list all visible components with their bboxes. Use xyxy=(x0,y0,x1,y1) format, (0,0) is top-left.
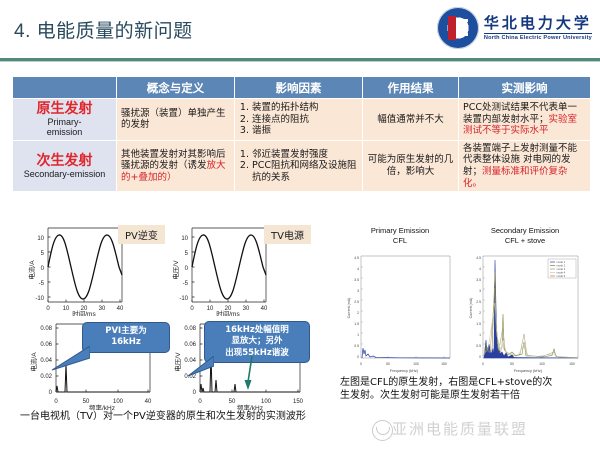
y-axis-title: 电流/A xyxy=(27,260,36,280)
cell-secondary-measured: 各装置端子上发射测量不能代表整体设施 对电网的发射；测量标准和评价复杂化。 xyxy=(459,140,591,191)
ytick-label: 1 xyxy=(357,333,359,337)
xtick-label: 0 xyxy=(482,362,484,366)
row-label-primary: 原生发射 Primary- emission xyxy=(13,99,117,141)
ytick-label: 4 xyxy=(479,267,481,271)
table-header-result: 作用结果 xyxy=(363,77,459,99)
ytick-label: 4.5 xyxy=(354,256,359,260)
ytick-label: 0.08 xyxy=(40,326,52,332)
xtick-label: 0 xyxy=(54,399,58,405)
watermark-text: 亚洲电能质量联盟 xyxy=(392,418,528,439)
callout-pvi-tail-icon xyxy=(50,346,90,372)
table-header-measured: 实测影响 xyxy=(459,77,591,99)
row-label-secondary-cn: 次生发射 xyxy=(17,153,112,169)
y-axis-title: 电压/V xyxy=(171,260,180,280)
secondary-emission-title: Secondary Emission CFL + stove xyxy=(462,226,588,246)
table-header-definition: 概念与定义 xyxy=(117,77,235,99)
list-item: PCC阻抗和网络及设施阻抗的关系 xyxy=(252,160,358,183)
waveform-line xyxy=(48,235,122,299)
ytick-label: 3 xyxy=(357,289,359,293)
ytick-label: 2.5 xyxy=(476,300,481,304)
list-item: 谐振 xyxy=(252,125,358,137)
row-label-primary-en2: emission xyxy=(17,127,112,137)
y-axis-title: 电压/V xyxy=(173,352,182,372)
ytick-label: 0 xyxy=(193,390,197,396)
callout-line: 16kHz处幅值明 xyxy=(209,325,305,336)
ytick-label: 1 xyxy=(479,333,481,337)
emission-comparison-table: 概念与定义 影响因素 作用结果 实测影响 原生发射 Primary- emiss… xyxy=(12,76,591,192)
list-item: 邻近装置发射强度 xyxy=(252,149,358,161)
row-label-secondary: 次生发射 Secondary-emission xyxy=(13,140,117,191)
row-label-secondary-en1: Secondary-emission xyxy=(17,169,112,179)
xtick-label: 30 xyxy=(99,306,106,312)
callout-line: 16kHz xyxy=(87,337,165,348)
xtick-label: 0 xyxy=(190,306,194,312)
legend-label: mode 3 xyxy=(557,267,566,271)
ytick-label: 4.5 xyxy=(476,256,481,260)
cell-primary-result: 幅值通常并不大 xyxy=(363,99,459,141)
ytick-label: 3.5 xyxy=(476,278,481,282)
secondary-emission-title-line1: Secondary Emission xyxy=(462,226,588,236)
table-header-blank xyxy=(13,77,117,99)
table-row: 原生发射 Primary- emission 骚扰源（装置）单独产生的发射 装置… xyxy=(13,99,591,141)
header-divider-thin xyxy=(0,61,600,62)
watermark-logo-icon xyxy=(372,420,393,441)
left-figure-caption: 一台电视机（TV）对一个PV逆变器的原生和次生发射的实测波形 xyxy=(20,410,320,423)
cell-secondary-result: 可能为原生发射的几倍，影响大 xyxy=(363,140,459,191)
secondary-trace-mode4 xyxy=(484,303,578,358)
legend-label: mode 4 xyxy=(557,271,566,275)
ytick-label: 3 xyxy=(479,289,481,293)
ytick-label: 0 xyxy=(49,390,53,396)
table-header-row: 概念与定义 影响因素 作用结果 实测影响 xyxy=(13,77,591,99)
ytick-label: 2.5 xyxy=(354,300,359,304)
cell-secondary-factors: 邻近装置发射强度 PCC阻抗和网络及设施阻抗的关系 xyxy=(235,140,363,191)
callout-line: PVI主要为 xyxy=(87,326,165,337)
right-figure-group: Primary Emission CFL Secondary Emission … xyxy=(336,222,596,448)
ytick-label: 10 xyxy=(181,236,188,242)
chart-wave-voltage: 10 5 0 -5 -10 0 10 20 30 40 电压/V 时间/ms xyxy=(166,224,278,316)
xtick-label: 10 xyxy=(207,306,214,312)
university-emblem-icon xyxy=(437,7,479,49)
x-axis-title: 频率/kHz xyxy=(89,403,115,410)
slide-root: 4. 电能质量的新问题 华北电力大学 North China Electric … xyxy=(0,0,600,450)
ytick-label: 5 xyxy=(41,251,45,257)
legend-label: mode 1 xyxy=(557,260,566,264)
xtick-label: 0 xyxy=(360,362,362,366)
ytick-label: 1.5 xyxy=(476,322,481,326)
cell-primary-factors: 装置的拓扑结构 连接点的阻抗 谐振 xyxy=(235,99,363,141)
xtick-label: 40 xyxy=(145,399,152,405)
ytick-label: -10 xyxy=(179,296,188,302)
xtick-label: 0 xyxy=(46,306,50,312)
ytick-label: 0 xyxy=(185,266,189,272)
logo-chinese-name: 华北电力大学 xyxy=(484,15,592,32)
callout-line: 显放大；另外 xyxy=(209,336,305,347)
x-axis-title: Frequency (kHz) xyxy=(390,369,419,373)
ytick-label: 0.02 xyxy=(40,374,52,380)
y-axis-title: 电流/A xyxy=(29,352,38,372)
ytick-label: 0.06 xyxy=(184,342,196,348)
ytick-label: 0 xyxy=(357,355,359,359)
xtick-label: 150 xyxy=(441,362,447,366)
slide-header: 4. 电能质量的新问题 华北电力大学 North China Electric … xyxy=(0,0,600,62)
list-item: 连接点的阻抗 xyxy=(252,114,358,126)
logo-english-name: North China Electric Power University xyxy=(484,33,592,41)
legend-label: mode 2 xyxy=(557,264,566,268)
table-header-factors: 影响因素 xyxy=(235,77,363,99)
xtick-label: 10 xyxy=(63,306,70,312)
chart-legend: mode 1 mode 2 mode 3 mode 4 mode 5 xyxy=(548,259,576,278)
harmonic-arrow-icon xyxy=(242,356,258,392)
primary-emission-title-line1: Primary Emission xyxy=(342,226,458,236)
chart-primary-emission: 4.5 4 3.5 3 2.5 2 1.5 1 0.5 0 0 50 100 1… xyxy=(340,248,464,376)
ytick-label: 0.5 xyxy=(354,344,359,348)
xtick-label: 40 xyxy=(261,306,268,312)
legend-label: mode 5 xyxy=(557,274,566,278)
waveform-line xyxy=(192,235,266,299)
y-axis-title: Current (mA) xyxy=(469,298,473,319)
callout-harmonic-tail-icon xyxy=(186,356,214,378)
ytick-label: 0.5 xyxy=(476,344,481,348)
ytick-label: 5 xyxy=(185,251,189,257)
ytick-label: 0.08 xyxy=(184,326,196,332)
xtick-label: 0 xyxy=(198,399,202,405)
xtick-label: 100 xyxy=(539,362,545,366)
ytick-label: -5 xyxy=(183,281,189,287)
primary-emission-title-line2: CFL xyxy=(342,236,458,246)
row-label-primary-en1: Primary- xyxy=(17,117,112,127)
page-title: 4. 电能质量的新问题 xyxy=(14,16,193,43)
right-figure-caption: 左图是CFL的原生发射，右图是CFL+stove的次 生发射。次生发射可能是原生… xyxy=(340,376,594,402)
university-logo: 华北电力大学 North China Electric Power Univer… xyxy=(437,5,592,51)
ytick-label: 2 xyxy=(357,311,359,315)
right-caption-line1: 左图是CFL的原生发射，右图是CFL+stove的次 xyxy=(340,376,594,389)
y-axis-title: Current (mA) xyxy=(347,298,351,319)
cell-primary-definition: 骚扰源（装置）单独产生的发射 xyxy=(117,99,235,141)
ytick-label: 4 xyxy=(357,267,359,271)
tag-pv-inverter: PV逆变 xyxy=(118,225,165,244)
tag-tv-power: TV电源 xyxy=(264,225,311,244)
x-axis-title: 时间/ms xyxy=(216,309,240,316)
ytick-label: 10 xyxy=(37,236,44,242)
primary-spectrum-line xyxy=(362,348,450,358)
xtick-label: 30 xyxy=(243,306,250,312)
xtick-label: 150 xyxy=(569,362,575,366)
x-axis-title: Frequency (kHz) xyxy=(514,369,543,373)
list-item: 装置的拓扑结构 xyxy=(252,102,358,114)
ytick-label: 2 xyxy=(479,311,481,315)
cell-primary-measured: PCC处测试结果不代表单一装置内部发射水平；实验室测试不等于实际水平 xyxy=(459,99,591,141)
xtick-label: 50 xyxy=(386,362,390,366)
cell-secondary-definition: 其他装置发射对其影响后骚扰源的发射（诱发放大的+叠加的） xyxy=(117,140,235,191)
xtick-label: 50 xyxy=(510,362,514,366)
xtick-label: 50 xyxy=(229,399,236,405)
ytick-label: -10 xyxy=(35,296,44,302)
chart-secondary-emission: 4.5 4 3.5 3 2.5 2 1.5 1 0.5 0 0 50 100 1… xyxy=(462,248,592,376)
ytick-label: 3.5 xyxy=(354,278,359,282)
right-caption-line2: 生发射。次生发射可能是原生发射若干倍 xyxy=(340,389,594,402)
ytick-label: -5 xyxy=(39,281,45,287)
secondary-emission-title-line2: CFL + stove xyxy=(462,236,588,246)
primary-emission-title: Primary Emission CFL xyxy=(342,226,458,246)
left-figure-group: 10 5 0 -5 -10 0 10 20 30 40 电流/A 时间/ms xyxy=(8,222,328,448)
ytick-label: 0 xyxy=(479,355,481,359)
x-axis-title: 时间/ms xyxy=(72,309,96,316)
xtick-label: 150 xyxy=(293,399,304,405)
table-row: 次生发射 Secondary-emission 其他装置发射对其影响后骚扰源的发… xyxy=(13,140,591,191)
xtick-label: 40 xyxy=(117,306,124,312)
ytick-label: 1.5 xyxy=(354,322,359,326)
callout-pvi-frequency: PVI主要为 16kHz xyxy=(82,322,170,353)
x-axis-title: 频率/kHz xyxy=(237,403,263,410)
xtick-label: 100 xyxy=(413,362,419,366)
ytick-label: 0 xyxy=(41,266,45,272)
row-label-primary-cn: 原生发射 xyxy=(17,101,112,117)
